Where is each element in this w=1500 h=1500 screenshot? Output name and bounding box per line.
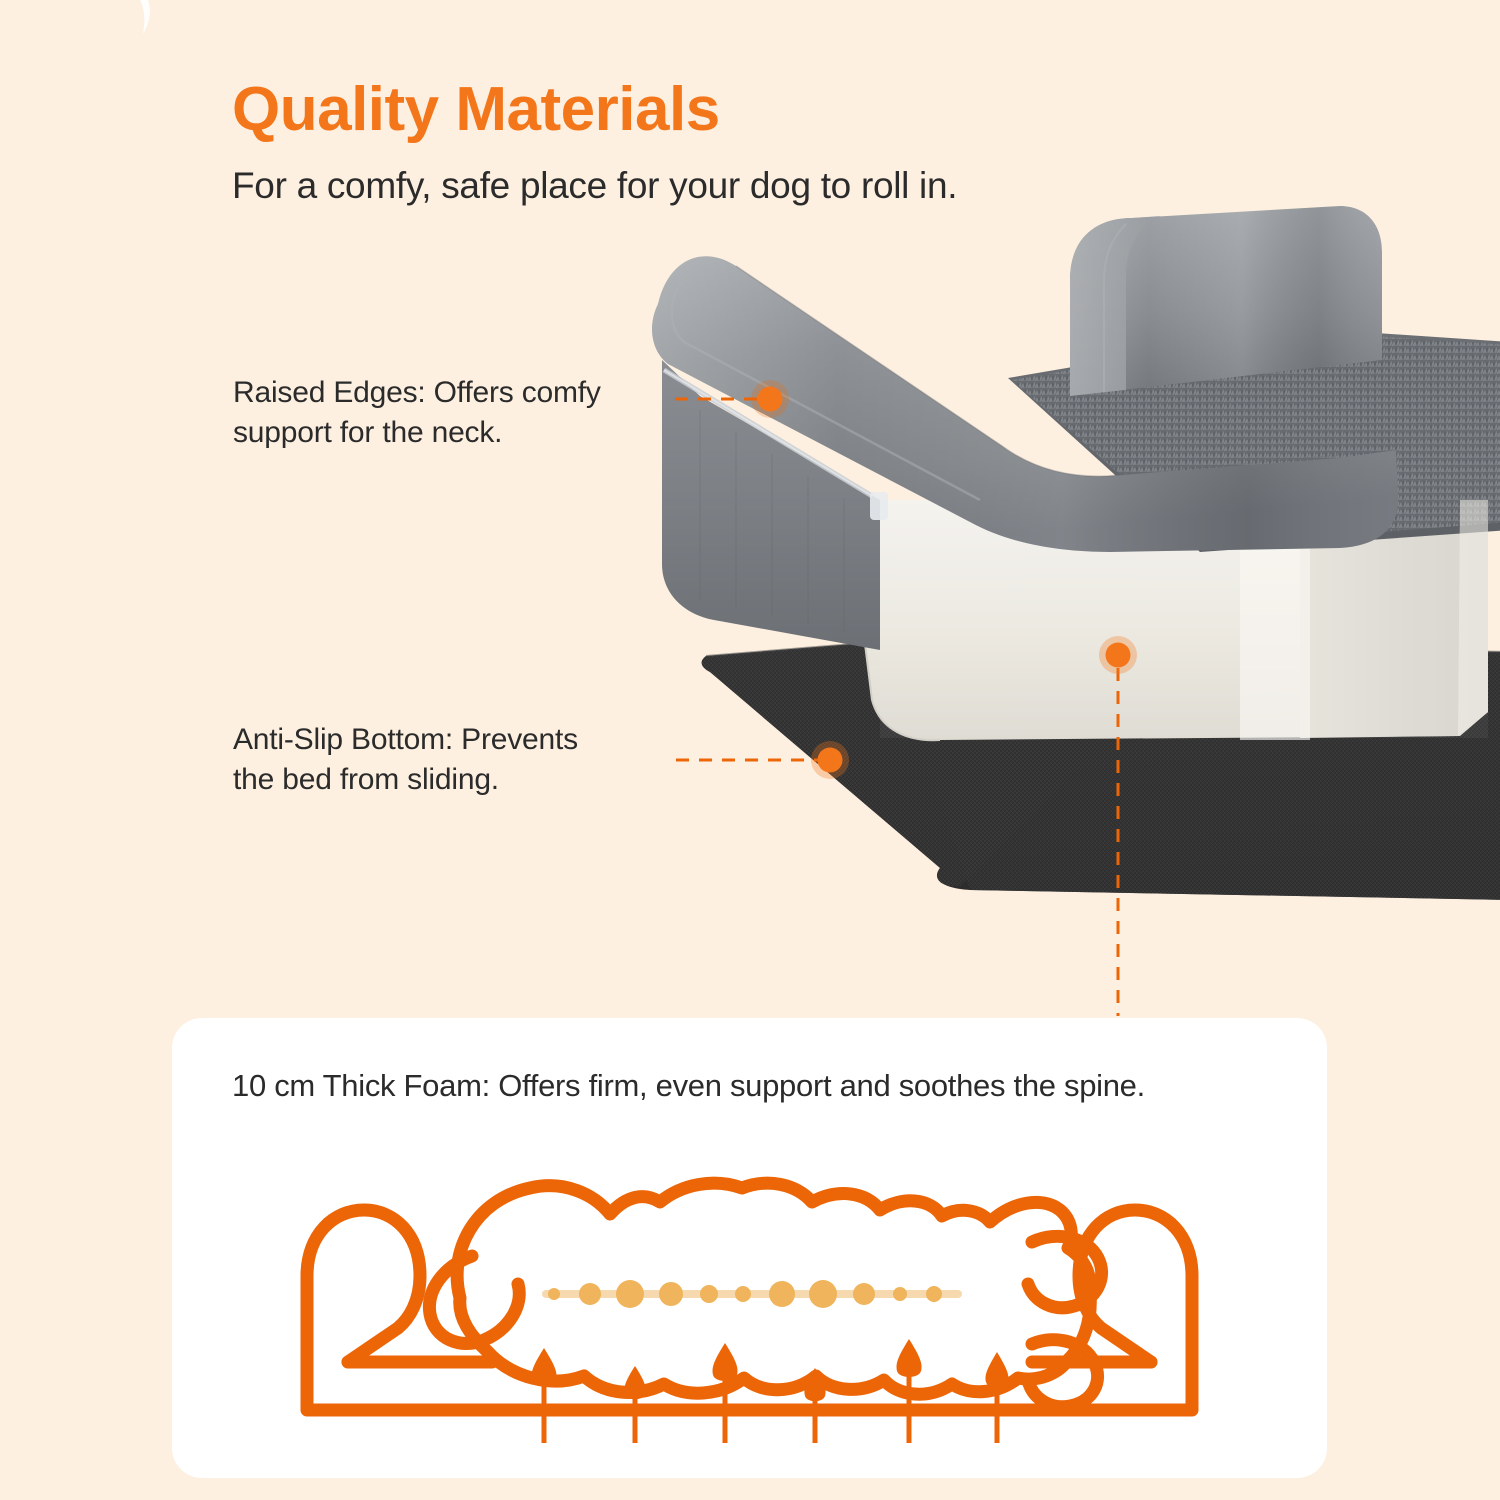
callout-anti-slip-line1: Anti-Slip Bottom: Prevents [233,720,703,760]
foam-info-text: 10 cm Thick Foam: Offers firm, even supp… [232,1068,1145,1104]
page-subtitle: For a comfy, safe place for your dog to … [232,165,957,207]
callout-anti-slip-bottom: Anti-Slip Bottom: Prevents the bed from … [233,720,703,800]
dog-spine [542,1280,962,1308]
foam-right-wrap [1458,500,1488,736]
support-arrow [532,1348,557,1443]
callout-raised-edges: Raised Edges: Offers comfy support for t… [233,373,693,453]
foam-info-card: 10 cm Thick Foam: Offers firm, even supp… [172,1018,1327,1478]
callout-raised-edges-line2: support for the neck. [233,413,693,453]
page-title: Quality Materials [232,74,720,145]
callout-anti-slip-line2: the bed from sliding. [233,760,703,800]
dog-lying-in-bed-diagram [212,1148,1287,1448]
top-wisp-decoration [0,0,1500,60]
product-photo-dog-bed [640,200,1500,940]
callout-raised-edges-line1: Raised Edges: Offers comfy [233,373,693,413]
bed-left-bolster [307,1210,420,1362]
infographic-stage: Quality Materials For a comfy, safe plac… [0,0,1500,1500]
